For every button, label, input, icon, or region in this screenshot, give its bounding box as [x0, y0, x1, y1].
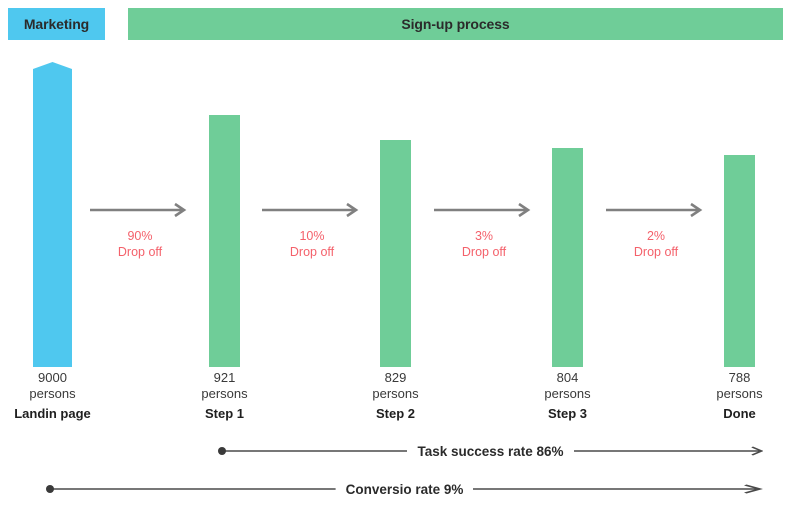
signup-process-label: Sign-up process [401, 16, 509, 32]
bar-fill [33, 73, 72, 367]
bar-step-3 [552, 148, 583, 367]
dropoff-percent: 10% [262, 228, 362, 244]
task-success-rate-label: Task success rate 86% [407, 444, 573, 459]
bar-stage: Done [687, 406, 791, 422]
bar-label-step-2: 829 persons Step 2 [343, 370, 448, 422]
dropoff-percent: 3% [434, 228, 534, 244]
dropoff-text: Drop off [90, 244, 190, 260]
dropoff-step-3-to-done: 2% Drop off [606, 202, 706, 261]
dropoff-percent: 90% [90, 228, 190, 244]
measure-line-right [574, 440, 763, 462]
marketing-segment-badge: Marketing [8, 8, 105, 40]
measure-line-left [218, 440, 407, 462]
bar-stage: Step 3 [515, 406, 620, 422]
measure-line-right [473, 478, 763, 500]
bar-fill [380, 140, 411, 367]
bar-unit: persons [687, 386, 791, 402]
bar-count: 829 [343, 370, 448, 386]
bar-count: 9000 [0, 370, 105, 386]
funnel-chart-canvas: Marketing Sign-up process 9000 persons L… [0, 0, 791, 513]
bar-unit: persons [172, 386, 277, 402]
bar-unit: persons [515, 386, 620, 402]
dropoff-text: Drop off [262, 244, 362, 260]
bar-count: 921 [172, 370, 277, 386]
bar-label-step-1: 921 persons Step 1 [172, 370, 277, 422]
dropoff-landin-page-to-step-1: 90% Drop off [90, 202, 190, 261]
bar-fill [552, 148, 583, 367]
dropoff-step-1-to-step-2: 10% Drop off [262, 202, 362, 261]
bar-count: 788 [687, 370, 791, 386]
arrow-right-icon [262, 202, 362, 218]
arrow-right-icon [90, 202, 190, 218]
bar-label-step-3: 804 persons Step 3 [515, 370, 620, 422]
bar-landin-page [33, 62, 72, 367]
conversion-rate-label: Conversio rate 9% [336, 482, 474, 497]
arrow-right-icon [434, 202, 534, 218]
bar-step-1 [209, 115, 240, 367]
dropoff-text: Drop off [434, 244, 534, 260]
bar-unit: persons [0, 386, 105, 402]
bar-fill [209, 115, 240, 367]
signup-process-banner: Sign-up process [128, 8, 783, 40]
bar-label-done: 788 persons Done [687, 370, 791, 422]
dropoff-text: Drop off [606, 244, 706, 260]
task-success-rate-start-dot [218, 447, 226, 455]
measure-line-left [46, 478, 336, 500]
bar-unit: persons [343, 386, 448, 402]
dropoff-step-2-to-step-3: 3% Drop off [434, 202, 534, 261]
bar-fill [724, 155, 755, 367]
bar-count: 804 [515, 370, 620, 386]
bar-done [724, 155, 755, 367]
dropoff-percent: 2% [606, 228, 706, 244]
bar-label-landin-page: 9000 persons Landin page [0, 370, 105, 422]
marketing-segment-label: Marketing [24, 16, 89, 32]
conversion-rate-start-dot [46, 485, 54, 493]
bar-stage: Step 1 [172, 406, 277, 422]
bar-stage: Step 2 [343, 406, 448, 422]
conversion-rate-measure: Conversio rate 9% [46, 478, 763, 500]
arrow-right-icon [606, 202, 706, 218]
bar-step-2 [380, 140, 411, 367]
task-success-rate-measure: Task success rate 86% [218, 440, 763, 462]
bar-stage: Landin page [0, 406, 105, 422]
